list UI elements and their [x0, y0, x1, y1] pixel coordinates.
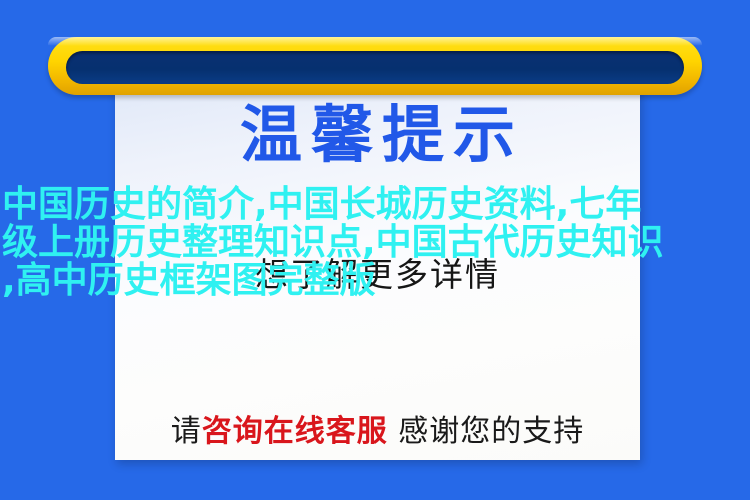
cta-line: 请咨询在线客服 感谢您的支持 — [115, 417, 640, 447]
dispenser-slot-outer-icon — [48, 37, 702, 95]
cta-prefix: 请 — [171, 414, 202, 449]
page-title: 温馨提示 — [115, 104, 640, 166]
notice-card: 温馨提示 想了解更多详情 请咨询在线客服 感谢您的支持 — [115, 62, 640, 460]
contact-support-link[interactable]: 咨询在线客服 — [202, 414, 388, 449]
cta-suffix: 感谢您的支持 — [388, 414, 585, 449]
dispenser-slot — [48, 37, 702, 95]
notice-body-text: 想了解更多详情 — [115, 258, 640, 291]
poster-canvas: 温馨提示 想了解更多详情 请咨询在线客服 感谢您的支持 中国历史的简介,中国长城… — [0, 0, 750, 500]
dispenser-slot-inner-icon — [66, 51, 684, 84]
